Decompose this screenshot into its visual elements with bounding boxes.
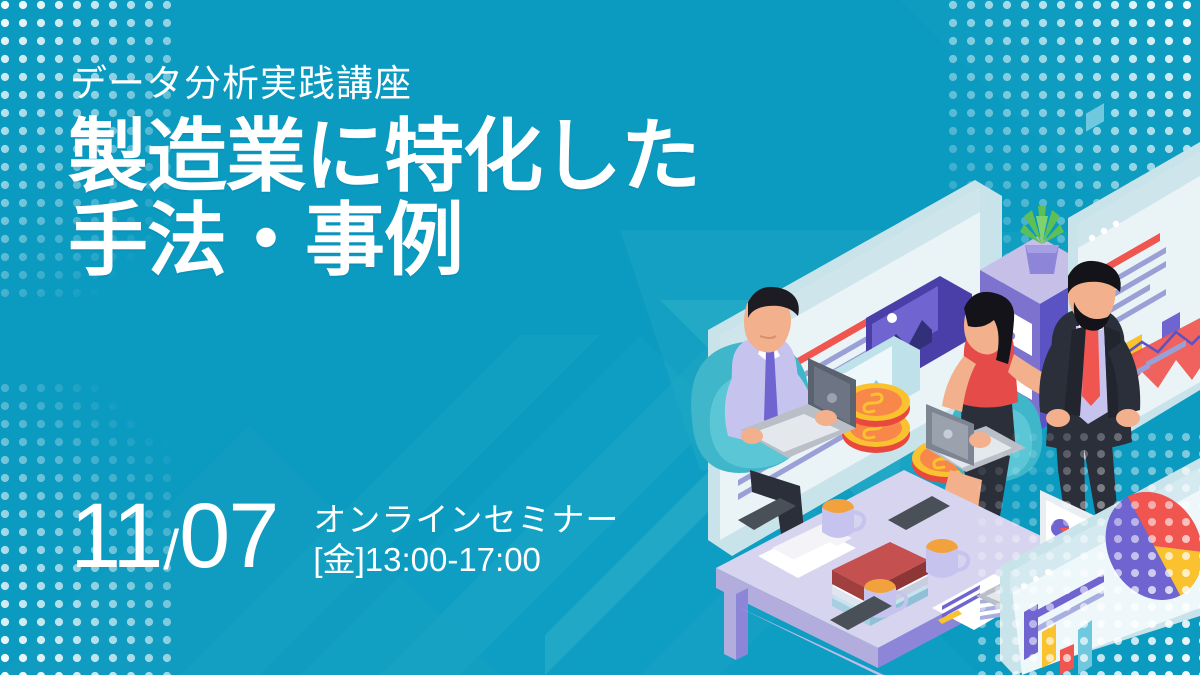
subtitle: データ分析実践講座	[70, 64, 700, 105]
event-meta: オンラインセミナー [金]13:00-17:00	[313, 492, 619, 581]
event-weekday-time: [金]13:00-17:00	[313, 540, 619, 580]
date-separator: /	[162, 523, 180, 577]
headline-block: データ分析実践講座 製造業に特化した 手法・事例	[68, 64, 700, 284]
event-day: 07	[179, 492, 277, 580]
isometric-office-illustration	[680, 0, 1200, 675]
event-month: 11	[70, 492, 162, 580]
page-title: 製造業に特化した 手法・事例	[68, 115, 700, 285]
title-line-2: 手法・事例	[68, 199, 700, 284]
illustration-svg	[680, 0, 1200, 675]
event-date: 11 / 07	[70, 492, 277, 580]
event-date-block: 11 / 07 オンラインセミナー [金]13:00-17:00	[70, 492, 619, 581]
title-line-1: 製造業に特化した	[68, 115, 700, 200]
seminar-banner: データ分析実践講座 製造業に特化した 手法・事例 11 / 07 オンラインセミ…	[0, 0, 1200, 675]
event-format-label: オンラインセミナー	[313, 500, 619, 540]
